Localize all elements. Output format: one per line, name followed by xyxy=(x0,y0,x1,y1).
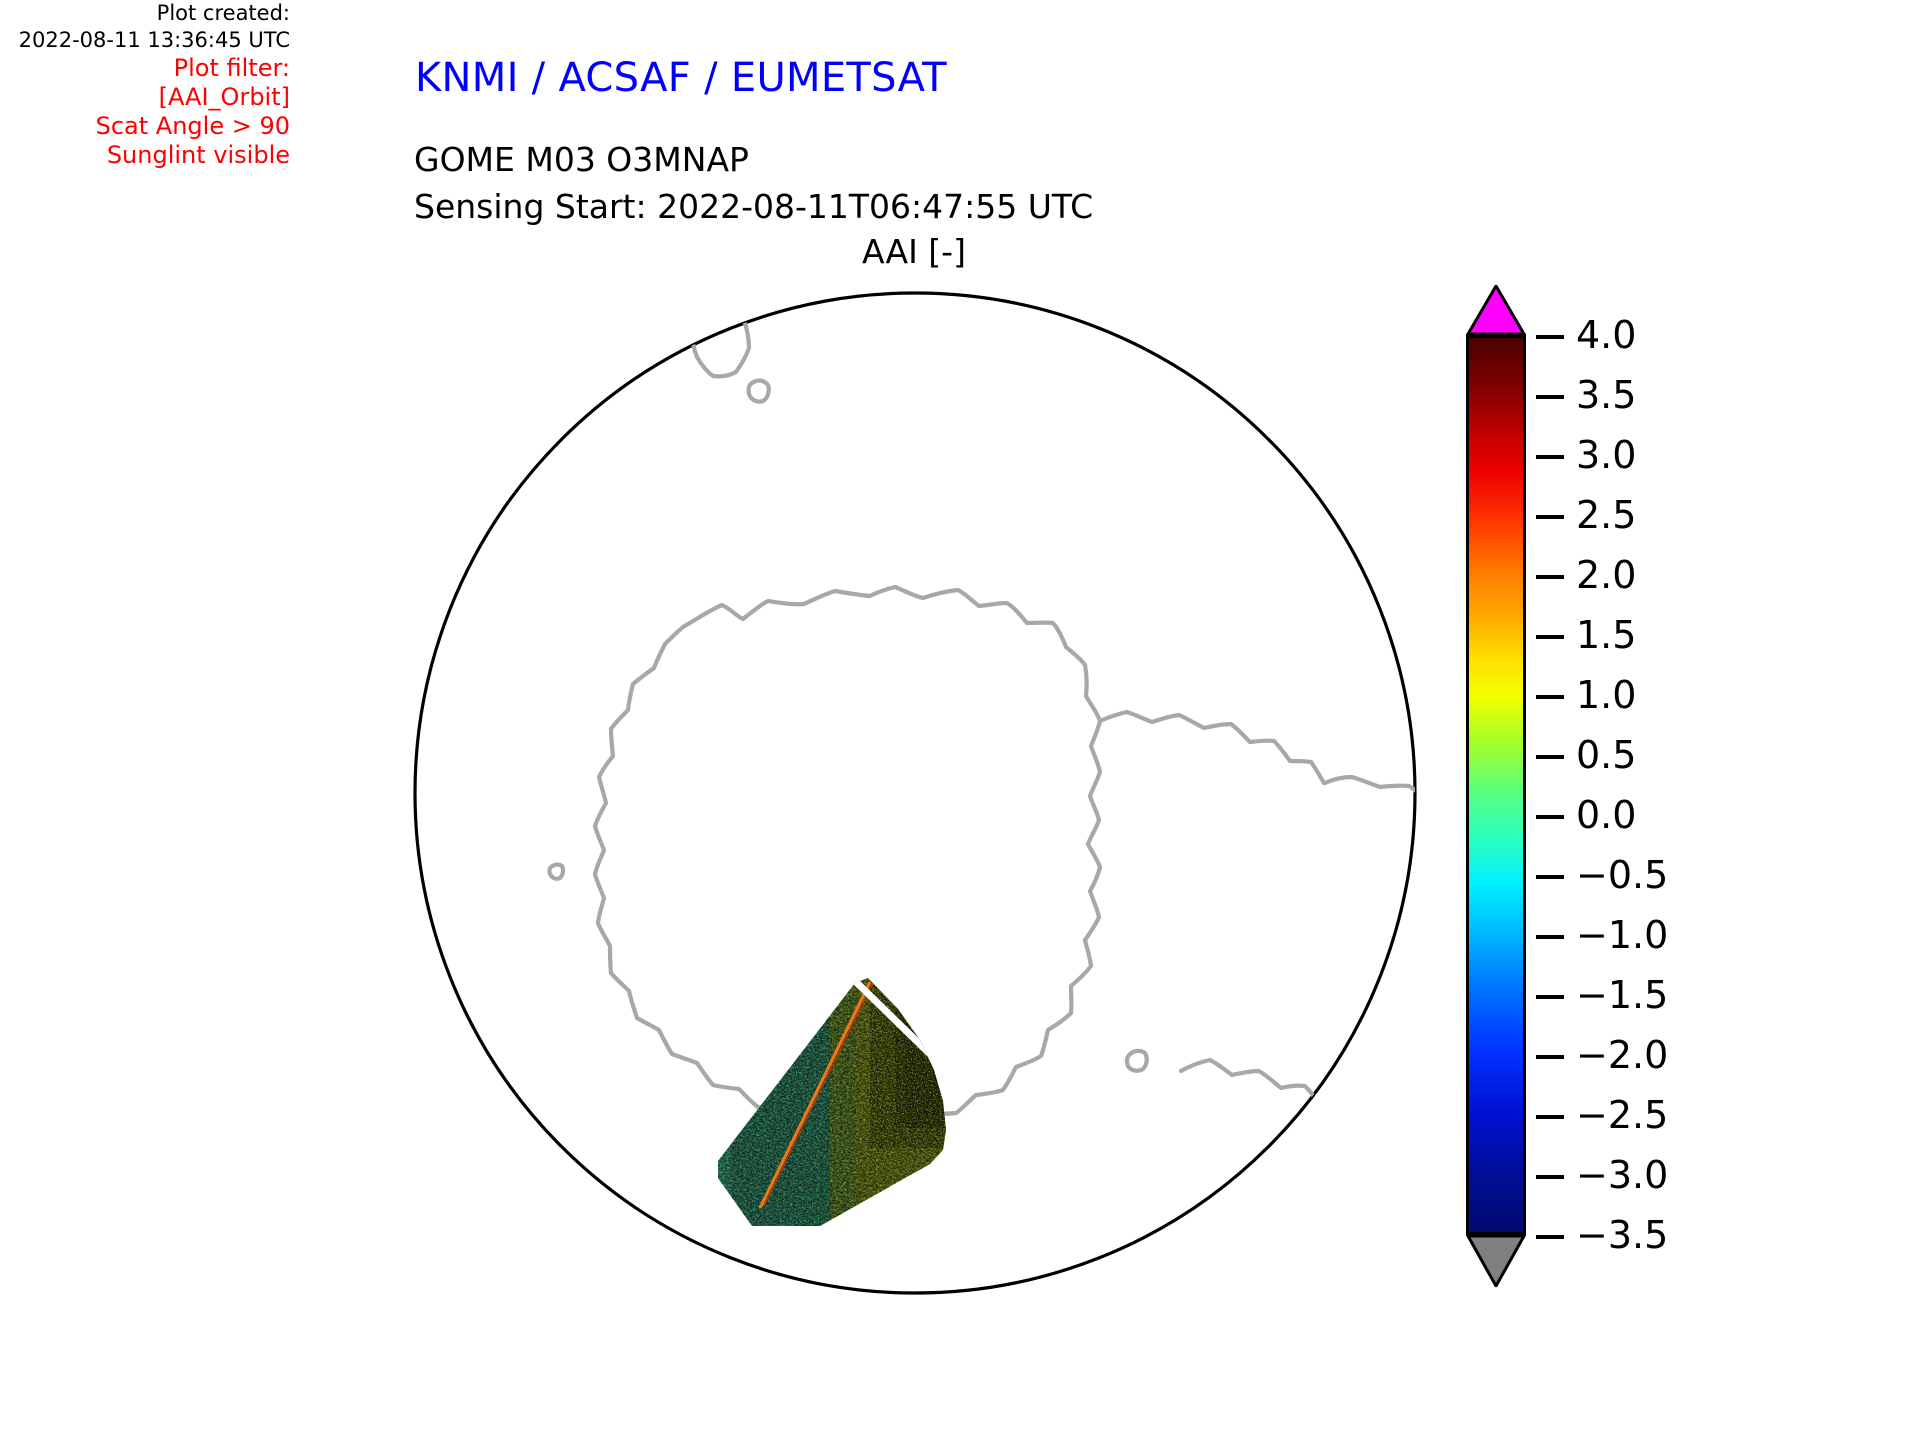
colorbar-tick-label: −3.5 xyxy=(1576,1213,1668,1257)
polar-stereographic-map[interactable] xyxy=(400,278,1430,1308)
colorbar-tick-label: −2.0 xyxy=(1576,1033,1668,1077)
colorbar-tick xyxy=(1536,1175,1564,1179)
colorbar-tick-label: 0.0 xyxy=(1576,793,1636,837)
colorbar-tick-label: −0.5 xyxy=(1576,853,1668,897)
plot-created-label: Plot created: xyxy=(0,0,290,27)
colorbar-tick xyxy=(1536,875,1564,879)
product-title: GOME M03 O3MNAP xyxy=(414,140,749,179)
plot-filter-label: Plot filter: xyxy=(0,54,290,83)
variable-label: AAI [-] xyxy=(862,232,966,271)
colorbar-tick xyxy=(1536,995,1564,999)
colorbar-tick xyxy=(1536,1235,1564,1239)
colorbar-tick-label: 0.5 xyxy=(1576,733,1636,777)
colorbar[interactable]: 4.03.53.02.52.01.51.00.50.0−0.5−1.0−1.5−… xyxy=(1448,285,1868,1305)
colorbar-tick-label: 2.0 xyxy=(1576,553,1636,597)
colorbar-tick xyxy=(1536,815,1564,819)
colorbar-tick xyxy=(1536,335,1564,339)
plot-filter-name: [AAI_Orbit] xyxy=(0,83,290,112)
colorbar-tick xyxy=(1536,1115,1564,1119)
plot-filter-sunglint: Sunglint visible xyxy=(0,141,290,170)
colorbar-tick-label: −1.0 xyxy=(1576,913,1668,957)
colorbar-tick-label: −2.5 xyxy=(1576,1093,1668,1137)
colorbar-tick xyxy=(1536,515,1564,519)
colorbar-tick-label: 1.5 xyxy=(1576,613,1636,657)
colorbar-tick-label: 3.5 xyxy=(1576,373,1636,417)
plot-filter-block: Plot filter: [AAI_Orbit] Scat Angle > 90… xyxy=(0,54,290,170)
plot-filter-scat-angle: Scat Angle > 90 xyxy=(0,112,290,141)
colorbar-tick xyxy=(1536,935,1564,939)
colorbar-tick xyxy=(1536,575,1564,579)
colorbar-gradient xyxy=(1466,335,1526,1235)
organisation-title: KNMI / ACSAF / EUMETSAT xyxy=(415,55,947,101)
colorbar-tick xyxy=(1536,455,1564,459)
colorbar-over-arrow xyxy=(1466,285,1526,335)
colorbar-tick xyxy=(1536,635,1564,639)
colorbar-tick-label: 1.0 xyxy=(1576,673,1636,717)
sensing-start-text: Sensing Start: 2022-08-11T06:47:55 UTC xyxy=(414,187,1093,226)
colorbar-tick xyxy=(1536,695,1564,699)
colorbar-under-arrow xyxy=(1466,1235,1526,1287)
colorbar-tick-label: 2.5 xyxy=(1576,493,1636,537)
colorbar-tick-label: −1.5 xyxy=(1576,973,1668,1017)
plot-created-block: Plot created: 2022-08-11 13:36:45 UTC xyxy=(0,0,290,54)
colorbar-tick-label: −3.0 xyxy=(1576,1153,1668,1197)
colorbar-tick xyxy=(1536,395,1564,399)
coastline-island-small-upper xyxy=(525,352,560,385)
plot-created-time: 2022-08-11 13:36:45 UTC xyxy=(0,27,290,54)
colorbar-tick-label: 3.0 xyxy=(1576,433,1636,477)
colorbar-tick xyxy=(1536,755,1564,759)
colorbar-tick-label: 4.0 xyxy=(1576,313,1636,357)
colorbar-tick xyxy=(1536,1055,1564,1059)
